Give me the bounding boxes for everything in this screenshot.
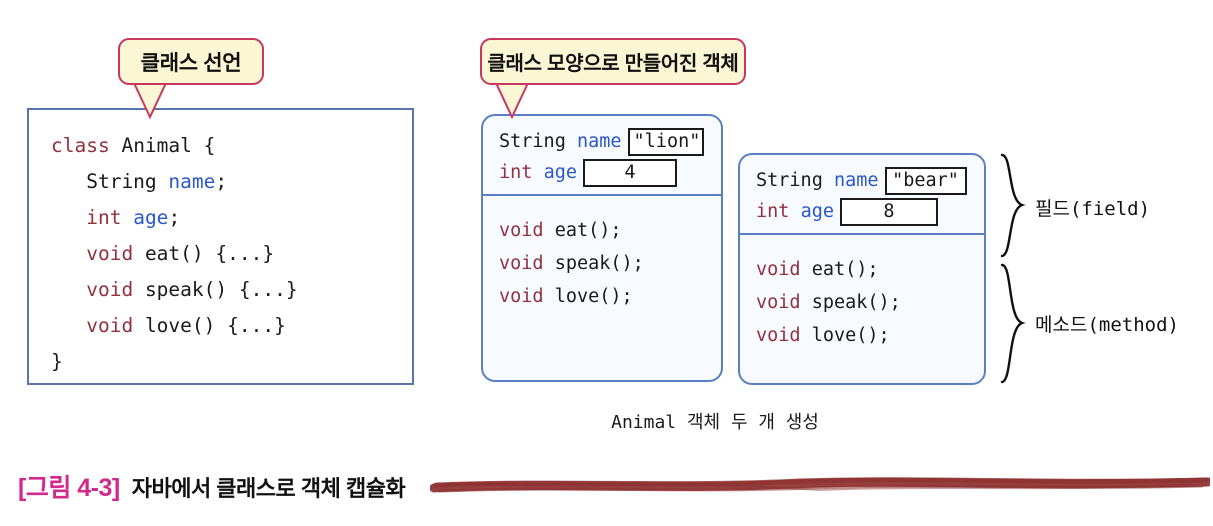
field-value-box: 4	[583, 159, 677, 187]
figure-title: 자바에서 클래스로 객체 캡슐화	[132, 471, 405, 503]
code-token: String	[51, 170, 168, 193]
method-brace-icon	[996, 262, 1030, 386]
code-lines: class Animal { String name; int age; voi…	[51, 128, 412, 380]
field-type: String	[499, 126, 577, 157]
field-name: name	[577, 126, 622, 157]
code-token: name	[168, 170, 215, 193]
object-box-bear: String name"bear"int age8 void eat();voi…	[738, 153, 986, 385]
code-token: void	[756, 259, 812, 280]
field-row: String name"bear"	[756, 165, 984, 196]
figure-canvas: 클래스 선언 클래스 모양으로 만들어진 객체 class Animal { S…	[0, 0, 1213, 526]
method-brace-label: 메소드(method)	[1035, 310, 1179, 337]
callout-class-declaration-label: 클래스 선언	[141, 47, 242, 77]
code-token: love() {...}	[145, 314, 286, 337]
code-token: void	[86, 242, 145, 265]
field-type: String	[756, 165, 834, 196]
object-lion-methods: void eat();void speak();void love();	[483, 196, 721, 313]
field-value-box: "lion"	[628, 128, 704, 156]
code-token: age	[133, 206, 168, 229]
code-token: void	[756, 292, 812, 313]
code-token: love();	[555, 286, 633, 307]
decorative-rule	[430, 472, 1210, 498]
code-token: void	[756, 325, 812, 346]
field-row: String name"lion"	[499, 126, 721, 157]
field-brace-label: 필드(field)	[1035, 194, 1150, 221]
object-box-lion: String name"lion"int age4 void eat();voi…	[481, 114, 723, 382]
code-token: speak();	[555, 253, 644, 274]
code-token: void	[86, 278, 145, 301]
code-token	[51, 206, 86, 229]
callout-object-from-class: 클래스 모양으로 만들어진 객체	[480, 38, 746, 85]
code-token: void	[499, 253, 555, 274]
code-line: void speak() {...}	[51, 272, 412, 308]
field-row: int age8	[756, 196, 984, 227]
field-row: int age4	[499, 157, 721, 188]
code-line: void love() {...}	[51, 308, 412, 344]
code-token: eat() {...}	[145, 242, 274, 265]
code-line: int age;	[51, 200, 412, 236]
code-token: void	[86, 314, 145, 337]
code-token	[51, 278, 86, 301]
callout-class-declaration-tail	[126, 80, 206, 120]
method-line: void eat();	[756, 253, 984, 286]
object-lion-fields: String name"lion"int age4	[483, 116, 721, 194]
code-token	[51, 242, 86, 265]
method-line: void eat();	[499, 214, 721, 247]
code-token: ;	[168, 206, 180, 229]
figure-caption: [그림 4-3] 자바에서 클래스로 객체 캡슐화	[18, 468, 405, 504]
field-name: age	[801, 196, 834, 227]
code-line: class Animal {	[51, 128, 412, 164]
field-value-box: 8	[840, 198, 938, 226]
code-token: void	[499, 286, 555, 307]
code-token: }	[51, 350, 63, 373]
callout-class-declaration: 클래스 선언	[118, 38, 264, 85]
field-brace-icon	[996, 152, 1030, 260]
code-token: eat();	[812, 259, 879, 280]
code-token: eat();	[555, 220, 622, 241]
field-value-box: "bear"	[885, 167, 967, 195]
method-line: void speak();	[756, 286, 984, 319]
code-line: String name;	[51, 164, 412, 200]
code-token: class	[51, 134, 121, 157]
code-token: int	[86, 206, 133, 229]
field-type: int	[756, 196, 801, 227]
field-name: age	[544, 157, 577, 188]
code-token: ;	[215, 170, 227, 193]
code-token: speak();	[812, 292, 901, 313]
code-token: speak() {...}	[145, 278, 298, 301]
object-bear-methods: void eat();void speak();void love();	[740, 235, 984, 352]
code-token: love();	[812, 325, 890, 346]
field-type: int	[499, 157, 544, 188]
method-line: void love();	[756, 319, 984, 352]
code-token: Animal {	[121, 134, 215, 157]
code-token	[51, 314, 86, 337]
callout-object-from-class-tail	[488, 80, 568, 120]
code-line: void eat() {...}	[51, 236, 412, 272]
callout-object-from-class-label: 클래스 모양으로 만들어진 객체	[487, 47, 738, 76]
code-line: }	[51, 344, 412, 380]
object-bear-fields: String name"bear"int age8	[740, 155, 984, 233]
class-declaration-code-box: class Animal { String name; int age; voi…	[27, 108, 414, 385]
method-line: void speak();	[499, 247, 721, 280]
field-name: name	[834, 165, 879, 196]
sub-caption: Animal 객체 두 개 생성	[565, 408, 865, 434]
figure-number: [그림 4-3]	[18, 468, 120, 504]
method-line: void love();	[499, 280, 721, 313]
code-token: void	[499, 220, 555, 241]
